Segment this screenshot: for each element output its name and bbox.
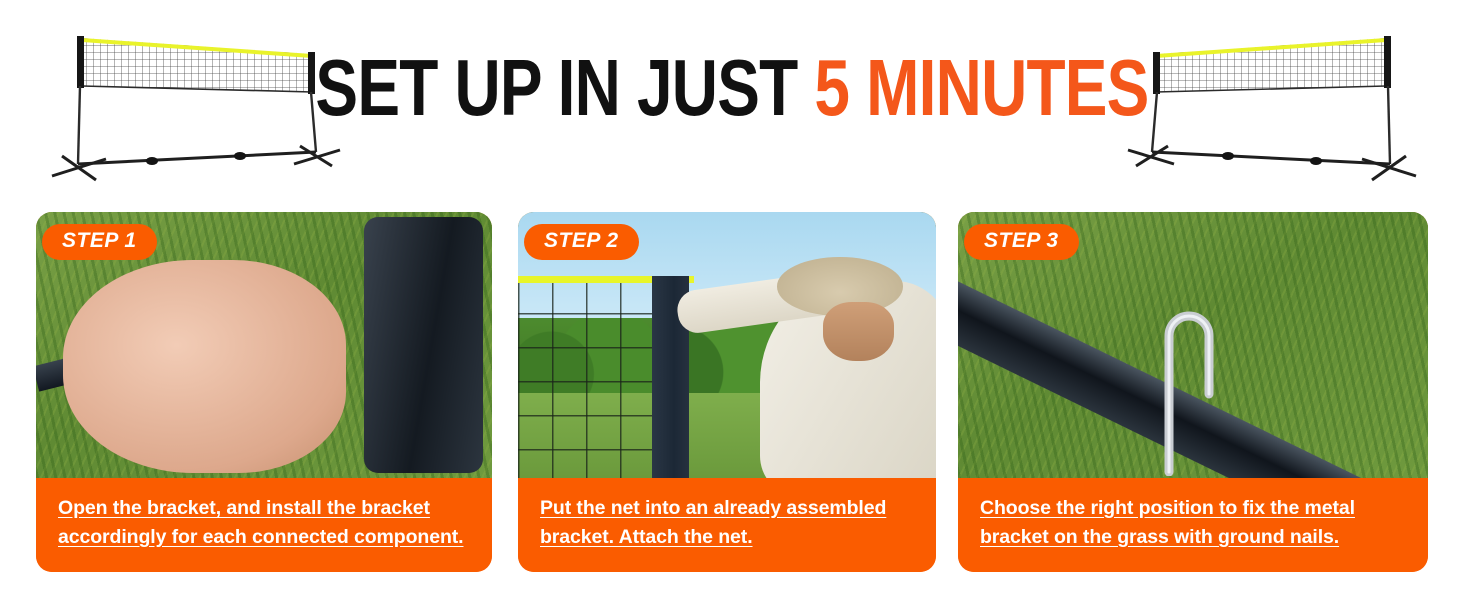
net-right-svg — [1124, 24, 1424, 194]
header-banner: SET UP IN JUST 5 MINUTES — [0, 0, 1464, 205]
badminton-net-right-illustration — [1124, 24, 1424, 194]
step-card-2: STEP 2 Put the net into an already assem… — [518, 212, 936, 572]
step-2-badge: STEP 2 — [524, 224, 639, 260]
step-card-1: STEP 1 Open the bracket, and install the… — [36, 212, 492, 572]
step-1-badge: STEP 1 — [42, 224, 157, 260]
steps-row: STEP 1 Open the bracket, and install the… — [0, 212, 1464, 582]
step-2-caption-panel: Put the net into an already assembled br… — [518, 478, 936, 572]
step-3-caption-text: Choose the right position to fix the met… — [980, 494, 1406, 552]
step-2-caption-text: Put the net into an already assembled br… — [540, 494, 914, 552]
step-card-3: STEP 3 Choose the right position to fix … — [958, 212, 1428, 572]
bracket-icon — [364, 217, 483, 472]
headline-accent: 5 MINUTES — [814, 43, 1148, 132]
step-3-caption-panel: Choose the right position to fix the met… — [958, 478, 1428, 572]
step-3-badge: STEP 3 — [964, 224, 1079, 260]
step-1-caption-panel: Open the bracket, and install the bracke… — [36, 478, 492, 572]
step-1-caption-text: Open the bracket, and install the bracke… — [58, 494, 470, 552]
person-face — [823, 302, 894, 361]
ground-nail-svg — [1155, 276, 1225, 476]
hand-icon — [63, 260, 346, 473]
headline-prefix: SET UP IN JUST — [315, 43, 814, 132]
ground-nail-icon — [1155, 276, 1195, 466]
